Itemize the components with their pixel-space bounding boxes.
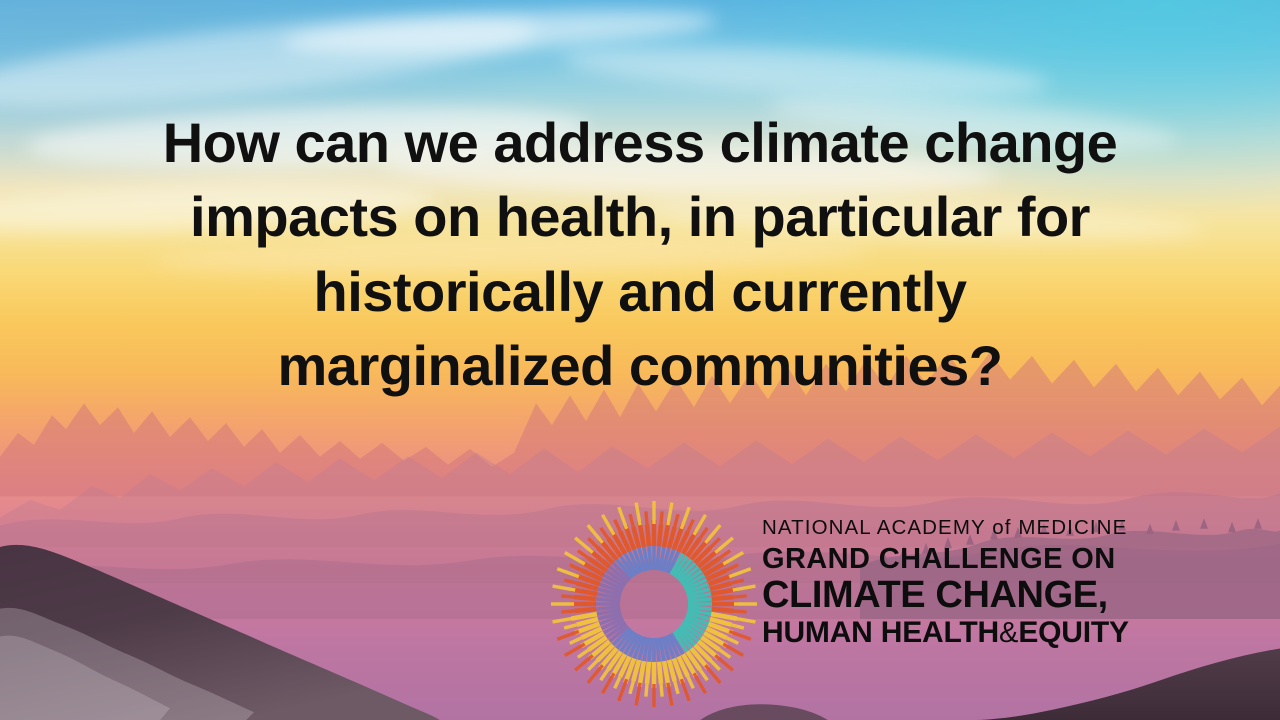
- logo-wordmark: NATIONAL ACADEMY of MEDICINE GRAND CHALL…: [762, 518, 1214, 649]
- logo-org-line: NATIONAL ACADEMY of MEDICINE: [762, 518, 1214, 539]
- logo-title-line-3-part-1: HUMAN HEALTH: [762, 616, 999, 649]
- slide-canvas: How can we address climate change impact…: [0, 0, 1280, 720]
- logo-title-line-1: GRAND CHALLENGE ON: [762, 543, 1214, 575]
- page-title: How can we address climate change impact…: [0, 106, 1280, 404]
- headline-line-2: impacts on health, in particular for: [48, 180, 1232, 254]
- nam-grand-challenge-logo: NATIONAL ACADEMY of MEDICINE GRAND CHALL…: [548, 498, 1248, 710]
- logo-title-line-2: CLIMATE CHANGE,: [762, 576, 1214, 616]
- headline-line-4: marginalized communities?: [48, 329, 1232, 403]
- logo-org-part-2: of: [992, 516, 1011, 539]
- logo-org-part-3: MEDICINE: [1018, 516, 1127, 539]
- logo-org-part-1: NATIONAL ACADEMY: [762, 516, 985, 539]
- logo-title-line-3-part-2: EQUITY: [1018, 616, 1128, 649]
- logo-title-line-3: HUMAN HEALTH&EQUITY: [762, 617, 1214, 649]
- sunburst-icon: [548, 498, 760, 710]
- headline-line-3: historically and currently: [48, 255, 1232, 329]
- headline-line-1: How can we address climate change: [48, 106, 1232, 180]
- ampersand-glyph: &: [999, 617, 1018, 649]
